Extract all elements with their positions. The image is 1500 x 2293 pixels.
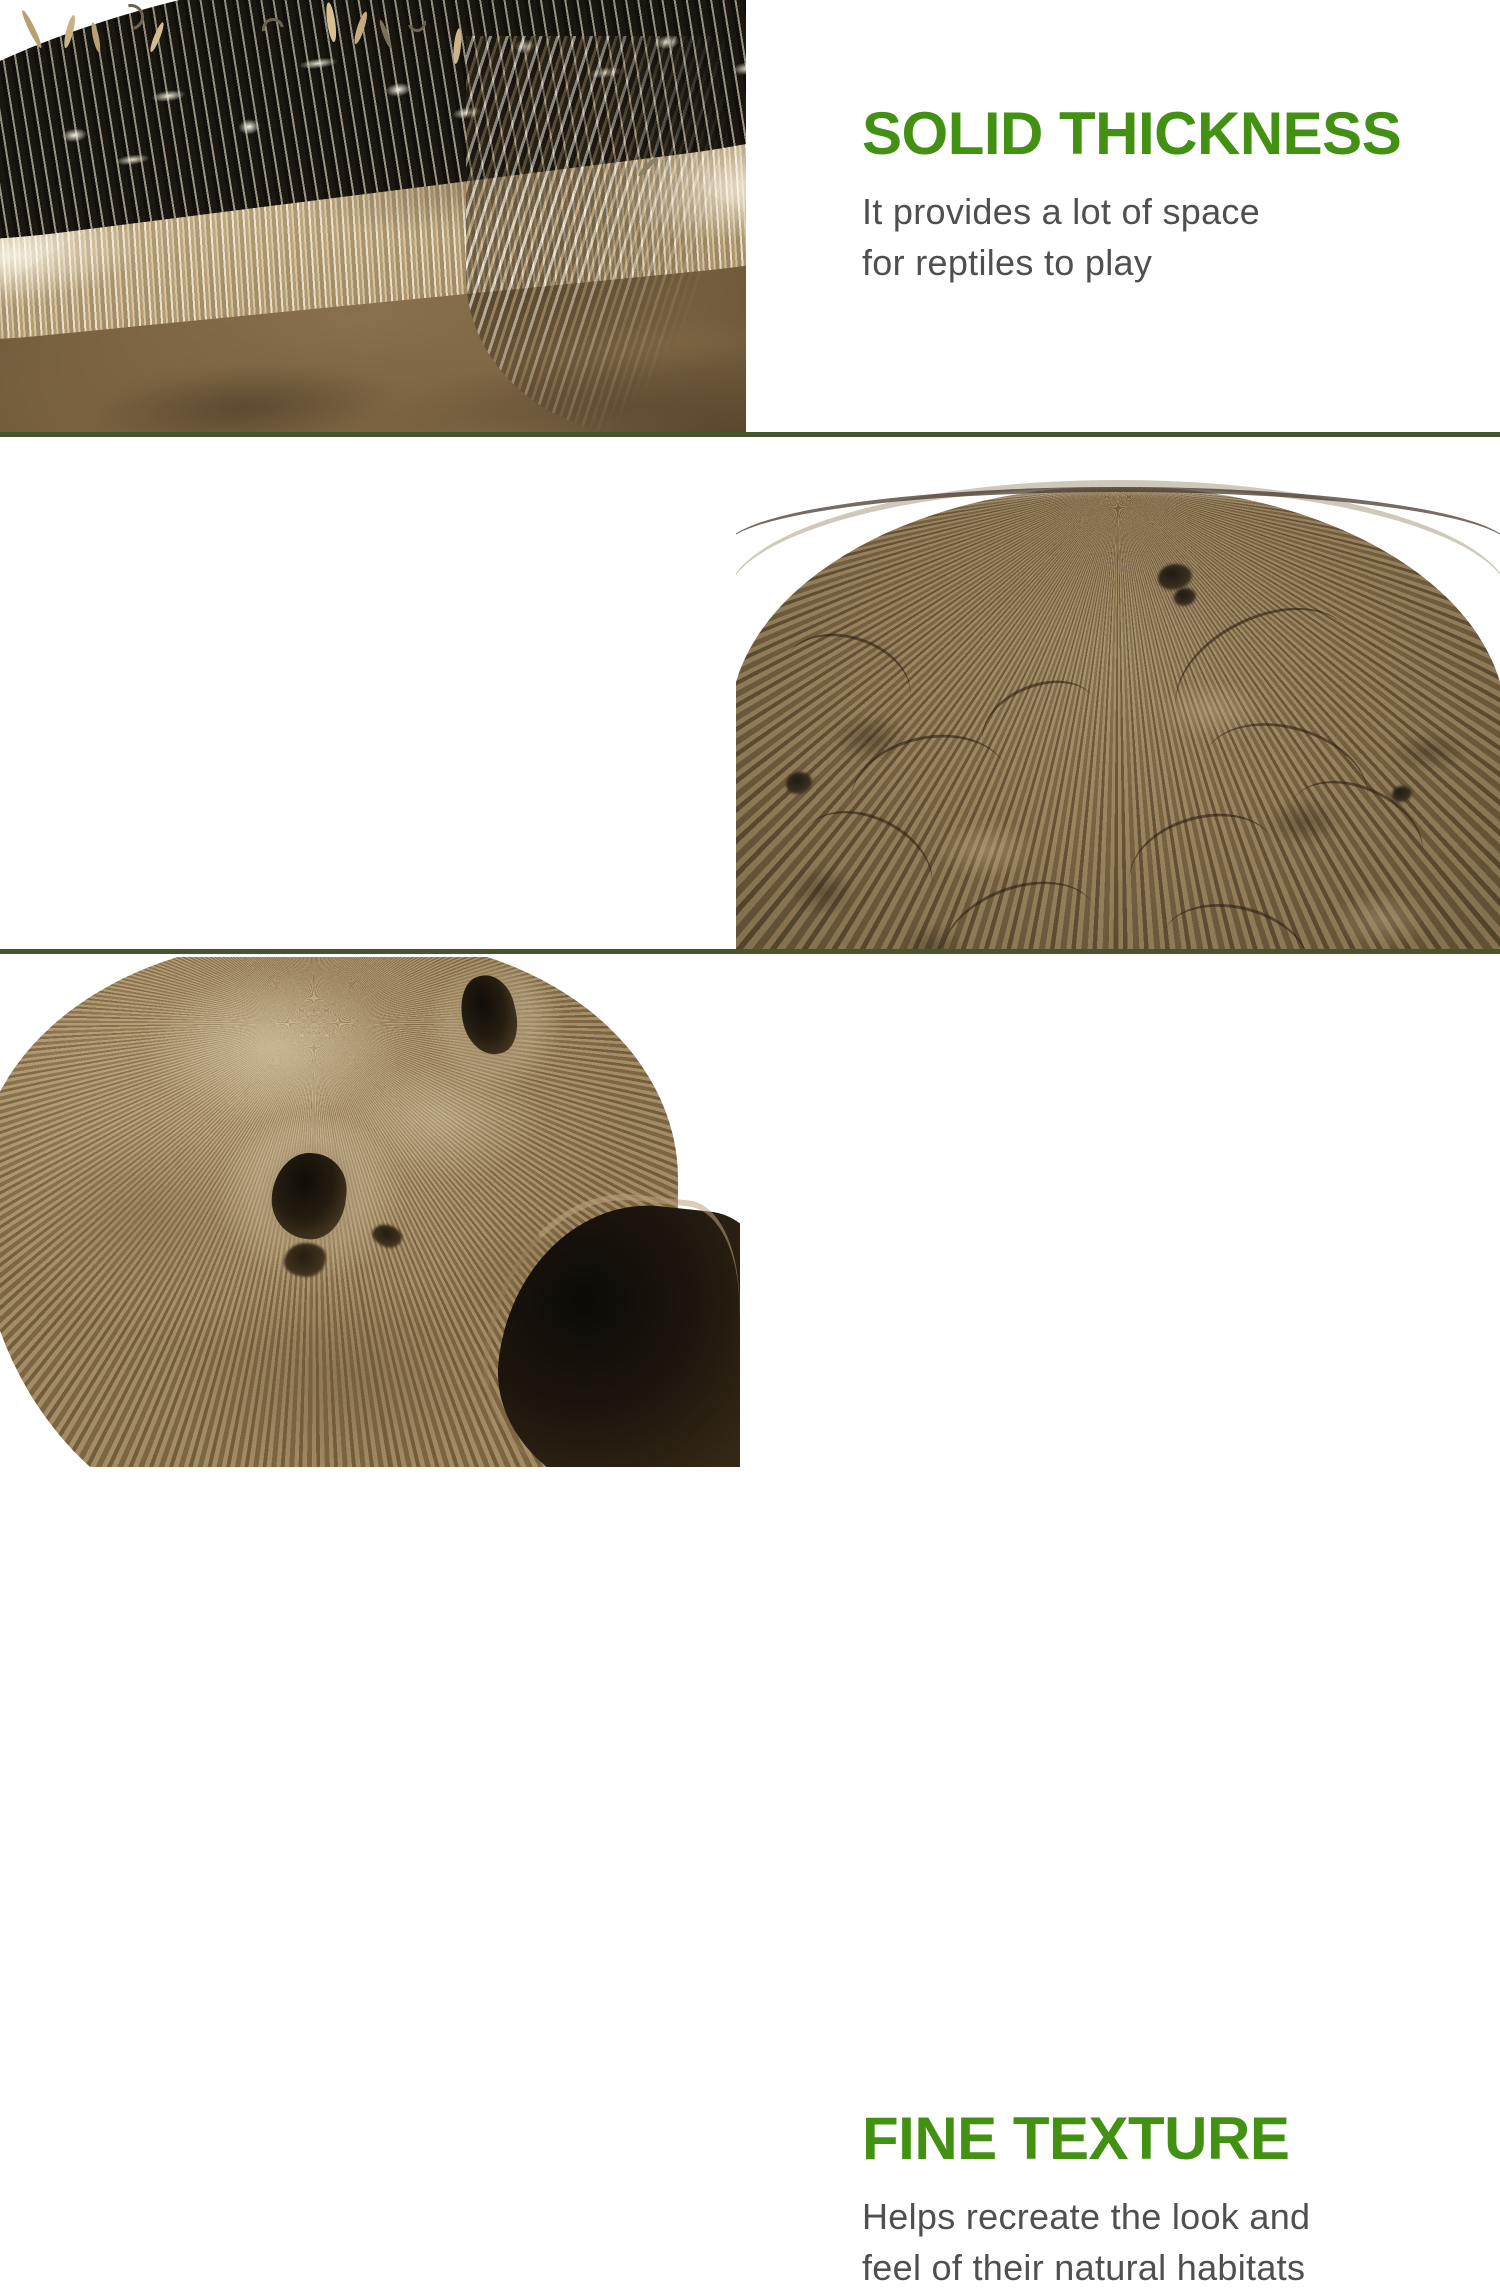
feature-text-block: SOLID THICKNESS It provides a lot of spa…: [862, 104, 1462, 288]
feature-description: It provides a lot of space for reptiles …: [862, 186, 1462, 288]
shell-vein: [1153, 580, 1376, 771]
feature-heading: SOLID THICKNESS: [862, 104, 1462, 164]
feature-panel-solid-thickness: SOLID THICKNESS It provides a lot of spa…: [0, 0, 1500, 436]
feature-text-block: FINE TEXTURE Helps recreate the look and…: [862, 2109, 1462, 2293]
shell-vein: [1274, 761, 1439, 900]
feature-description: Helps recreate the look and feel of thei…: [862, 2191, 1462, 2293]
shell-flank-striations: [466, 36, 746, 432]
shell-vein: [928, 862, 1113, 952]
coconut-shell-interior-photo: [736, 440, 1500, 952]
panel-divider: [0, 949, 1500, 954]
product-feature-infographic: SOLID THICKNESS It provides a lot of spa…: [0, 0, 1500, 1467]
feature-panel-fine-texture: FINE TEXTURE Helps recreate the look and…: [0, 957, 1500, 1467]
coconut-shell-thickness-photo: [0, 0, 746, 432]
shell-vein: [782, 790, 950, 938]
shell-vein: [771, 618, 922, 744]
shell-vein: [840, 721, 1019, 862]
feature-panel-coconut-shell: COCONUT SHELL Made of natural material w…: [0, 440, 1500, 952]
feature-heading: FINE TEXTURE: [862, 2109, 1462, 2169]
shell-blemish: [786, 772, 812, 794]
shell-vein: [1151, 889, 1320, 952]
shell-vein: [1188, 705, 1382, 858]
shell-blemish: [1392, 786, 1412, 802]
coconut-eye-nick: [284, 1243, 326, 1277]
shell-vein: [1117, 797, 1289, 934]
shell-vein: [969, 664, 1110, 783]
coconut-shell-hide-photo: [0, 957, 740, 1467]
panel-divider: [0, 432, 1500, 437]
